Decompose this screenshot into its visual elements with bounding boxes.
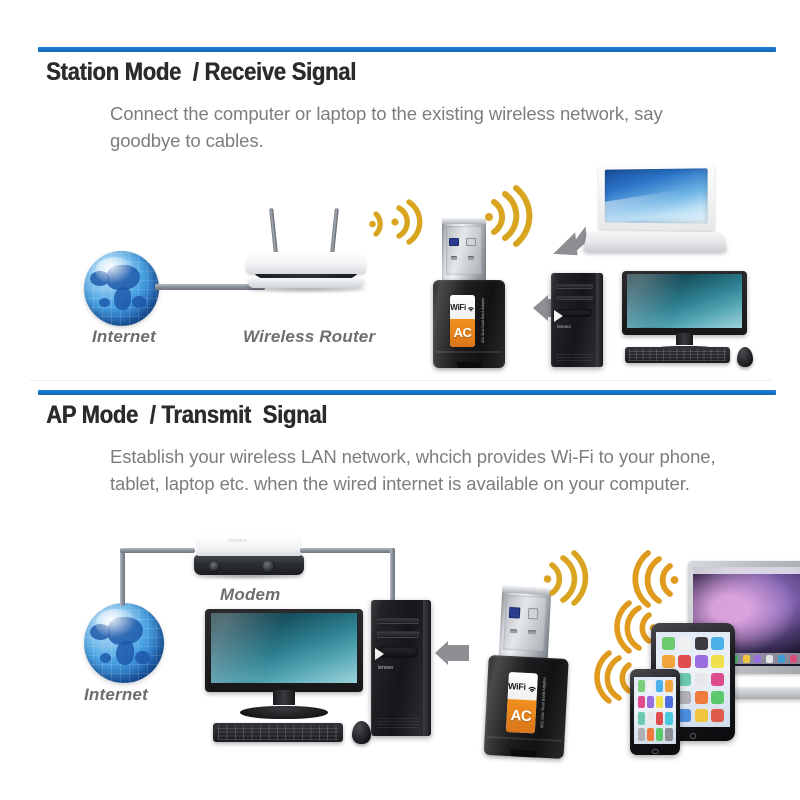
- app-icon: [678, 655, 691, 668]
- app-icon: [711, 709, 724, 722]
- modem-front-panel: [194, 555, 304, 575]
- accent-bar-bottom: [38, 390, 776, 395]
- tower-vent: [377, 717, 419, 728]
- app-icon: [695, 691, 708, 704]
- usb-notch-left: [510, 629, 518, 633]
- globe-icon-internet-ap: [84, 603, 164, 683]
- router-top-shell: [246, 252, 366, 274]
- mouse-station: [737, 347, 753, 367]
- modem-port-right: [262, 560, 275, 573]
- usb-wifi-adapter-station: WiFi AC 802.11ac Dual Band Adapte: [433, 218, 505, 368]
- app-icon: [665, 680, 672, 693]
- usb-a-connector: [442, 218, 487, 284]
- tower-logo-icon: [375, 648, 384, 660]
- app-icon: [638, 728, 645, 741]
- tower-brand-text: lenovo: [557, 324, 571, 329]
- usb-wifi-adapter-ap: WiFi AC 802.11ac Dual Band Adapte: [484, 585, 573, 759]
- tower-case: lenovo: [371, 600, 431, 736]
- desktop-monitor-station: [622, 271, 747, 357]
- app-icon: [678, 637, 691, 650]
- adapter-product-label: WiFi AC: [506, 672, 538, 734]
- dock-icon: [778, 655, 785, 663]
- keyboard-station: [625, 347, 730, 363]
- cable-internet-to-modem: [120, 548, 195, 553]
- app-icon: [662, 637, 675, 650]
- usb-contact-plate: [503, 595, 546, 652]
- app-icon: [662, 655, 675, 668]
- globe-landmass: [132, 296, 146, 308]
- tower-case: lenovo: [551, 273, 603, 367]
- section-station-mode: Station Mode / Receive Signal Connect th…: [0, 0, 800, 381]
- tower-drive-bay: [556, 296, 592, 301]
- app-icon: [711, 637, 724, 650]
- usb-pad: [466, 238, 476, 247]
- modem-brand-text: modem: [228, 538, 247, 544]
- keyboard-ap: [213, 723, 343, 742]
- globe-highlight: [95, 257, 134, 284]
- monitor-neck: [273, 690, 295, 706]
- adapter-label-ac-text: AC: [510, 707, 532, 725]
- tower-optical-drive: [378, 646, 418, 658]
- laptop-keyboard-base: [583, 232, 727, 253]
- laptop-screen: [605, 168, 707, 224]
- usb-notch-left: [451, 256, 458, 259]
- app-icon: [638, 696, 645, 709]
- desktop-tower-station: lenovo: [551, 273, 603, 367]
- app-icon: [678, 673, 691, 686]
- monitor-stand: [240, 706, 328, 718]
- usb-pad-blue: [449, 238, 459, 247]
- monitor-bezel: [205, 609, 363, 692]
- app-icon: [647, 680, 654, 693]
- app-icon: [695, 655, 708, 668]
- router-foot: [248, 278, 363, 288]
- modem-port-left: [209, 561, 220, 572]
- label-wireless-router: Wireless Router: [243, 327, 375, 347]
- app-icon: [647, 712, 654, 725]
- app-icon: [647, 696, 654, 709]
- label-internet-station: Internet: [92, 327, 156, 347]
- app-icon: [656, 728, 663, 741]
- monitor-bezel: [622, 271, 747, 335]
- section-body-station-mode: Connect the computer or laptop to the ex…: [110, 100, 730, 154]
- globe-highlight: [95, 609, 137, 638]
- keyboard-keys: [629, 349, 726, 361]
- adapter-label-wifi-text: WiFi: [450, 303, 466, 312]
- usb-pad: [528, 608, 539, 619]
- usb-pad-blue: [509, 607, 520, 618]
- wifi-signal-icon-label: [467, 303, 475, 312]
- globe-icon-internet-station: [84, 251, 159, 326]
- phone-home-button[interactable]: [652, 749, 659, 753]
- desktop-tower-ap: lenovo: [371, 600, 431, 736]
- adapter-product-label: WiFi AC: [450, 295, 474, 346]
- phone-screen: [634, 677, 676, 744]
- app-icon: [678, 709, 691, 722]
- wifi-signal-icon-router-2: [390, 198, 424, 246]
- app-icon: [695, 673, 708, 686]
- app-icon: [665, 696, 672, 709]
- usb-notch-right: [468, 256, 475, 259]
- section-title-ap-mode: AP Mode / Transmit Signal: [46, 401, 327, 430]
- adapter-cap-notch: [511, 749, 537, 757]
- usb-contact-plate: [446, 226, 483, 275]
- phone-earpiece: [653, 672, 657, 674]
- app-icon: [711, 673, 724, 686]
- wireless-router: [246, 208, 366, 290]
- globe-landmass: [114, 287, 131, 310]
- adapter-label-ac-row: AC: [506, 699, 536, 733]
- adapter-label-wifi-row: WiFi: [507, 672, 537, 701]
- app-icon: [711, 655, 724, 668]
- tower-side-panel: [596, 273, 603, 367]
- dock-icon: [766, 655, 773, 663]
- globe-sphere: [84, 251, 159, 326]
- adapter-seam: [488, 736, 562, 742]
- wifi-signal-icon-ap-device-1: [637, 553, 679, 605]
- tower-logo-icon: [554, 310, 563, 322]
- app-icon: [678, 691, 691, 704]
- globe-sphere: [84, 603, 164, 683]
- globe-landmass: [100, 653, 111, 663]
- app-icon: [695, 709, 708, 722]
- app-icon: [656, 696, 663, 709]
- adapter-label-ac-text: AC: [454, 325, 472, 340]
- adapter-cap-notch: [457, 362, 480, 368]
- wifi-signal-icon-ap-top: [543, 553, 585, 603]
- tower-drive-bay: [556, 284, 592, 289]
- tower-side-panel: [423, 600, 431, 736]
- section-title-station-mode: Station Mode / Receive Signal: [46, 58, 356, 87]
- arrow-icon-adapter-to-tower: [434, 641, 470, 665]
- phone-device: [630, 669, 680, 755]
- dock-icon: [754, 655, 761, 663]
- usb-top-edge: [442, 218, 487, 224]
- adapter-side-text: 802.11ac Dual Band Adapter: [481, 298, 485, 344]
- mouse-ap: [352, 721, 371, 744]
- adapter-label-wifi-row: WiFi: [450, 295, 474, 319]
- section-body-ap-mode: Establish your wireless LAN network, whc…: [110, 443, 730, 497]
- section-ap-mode: AP Mode / Transmit Signal Establish your…: [0, 381, 800, 800]
- app-icon: [647, 728, 654, 741]
- usb-notch-right: [528, 630, 536, 634]
- app-icon: [665, 712, 672, 725]
- monitor-screen: [211, 613, 356, 683]
- app-icon: [656, 712, 663, 725]
- tower-brand-text: lenovo: [378, 665, 393, 671]
- app-icon: [656, 680, 663, 693]
- desktop-monitor-ap: [205, 609, 363, 721]
- app-icon: [665, 728, 672, 741]
- modem-top-shell: modem: [197, 536, 300, 556]
- app-icon: [638, 712, 645, 725]
- app-icon: [638, 680, 645, 693]
- cable-modem-to-tower: [300, 548, 395, 553]
- keyboard-keys: [218, 725, 338, 739]
- globe-landmass: [116, 641, 134, 665]
- globe-landmass: [99, 298, 110, 308]
- adapter-label-ac-row: AC: [450, 319, 474, 347]
- tower-vent: [556, 354, 592, 362]
- adapter-side-text: 802.11ac Dual Band Adapter: [539, 677, 547, 728]
- tower-drive-bay: [377, 618, 419, 625]
- dock-icon: [743, 655, 750, 663]
- product-infographic: Station Mode / Receive Signal Connect th…: [0, 0, 800, 800]
- adapter-label-wifi-text: WiFi: [508, 681, 526, 692]
- cable-tower-vertical: [390, 548, 395, 601]
- adapter-seam: [436, 351, 502, 353]
- wifi-signal-icon-label: [527, 682, 538, 693]
- tower-drive-bay: [377, 631, 419, 638]
- dock-icon: [790, 655, 797, 663]
- label-internet-ap: Internet: [84, 685, 148, 705]
- monitor-screen: [627, 274, 742, 327]
- modem: modem: [194, 536, 304, 578]
- cable-internet-vertical: [120, 548, 125, 606]
- accent-bar-top: [38, 47, 776, 52]
- app-icon: [711, 691, 724, 704]
- adapter-black-shell: WiFi AC 802.11ac Dual Band Adapte: [484, 655, 569, 759]
- macbook-menubar: [693, 567, 800, 574]
- label-modem: Modem: [220, 585, 281, 605]
- monitor-neck: [676, 333, 694, 345]
- adapter-black-shell: WiFi AC 802.11ac Dual Band Adapte: [433, 280, 505, 369]
- app-icon: [695, 637, 708, 650]
- laptop-lid: [598, 163, 714, 231]
- globe-landmass: [135, 651, 149, 664]
- white-laptop: [585, 164, 725, 256]
